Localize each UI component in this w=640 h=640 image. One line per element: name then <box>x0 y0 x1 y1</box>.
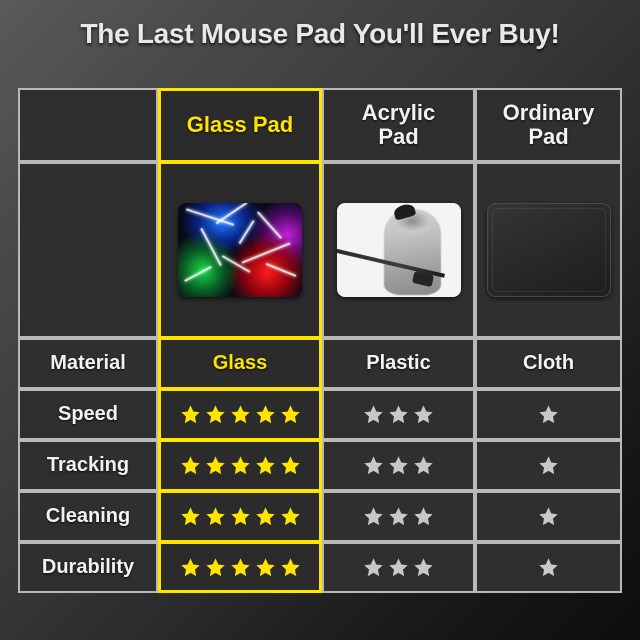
star-icon <box>255 455 276 476</box>
header-label-ordinary-pad: Ordinary Pad <box>503 101 595 149</box>
header-cell-acrylic-pad[interactable]: Acrylic Pad <box>322 88 475 162</box>
glass-pad-neon-lightning-icon <box>178 203 302 297</box>
star-icon <box>413 506 434 527</box>
star-icon <box>538 404 559 425</box>
star-icon <box>413 404 434 425</box>
star-rating <box>538 506 559 527</box>
star-rating <box>363 404 434 425</box>
table-row-cleaning: Cleaning <box>18 491 622 542</box>
star-rating <box>538 455 559 476</box>
header-label-glass-pad: Glass Pad <box>187 113 293 137</box>
star-icon <box>255 557 276 578</box>
star-rating <box>538 557 559 578</box>
star-icon <box>205 455 226 476</box>
star-icon <box>388 404 409 425</box>
image-cell-empty <box>18 162 158 338</box>
row-label-speed: Speed <box>18 389 158 440</box>
star-rating <box>363 506 434 527</box>
star-rating <box>180 455 301 476</box>
star-icon <box>413 455 434 476</box>
star-rating <box>363 557 434 578</box>
acrylic-pad-anime-grayscale-icon <box>337 203 461 297</box>
table-row-speed: Speed <box>18 389 622 440</box>
star-icon <box>205 557 226 578</box>
star-icon <box>230 404 251 425</box>
comparison-infographic: The Last Mouse Pad You'll Ever Buy! Glas… <box>0 0 640 640</box>
star-rating <box>180 404 301 425</box>
rating-glass-durability <box>158 542 322 593</box>
star-icon <box>230 506 251 527</box>
rating-acrylic-cleaning <box>322 491 475 542</box>
rating-glass-speed <box>158 389 322 440</box>
table-row-durability: Durability <box>18 542 622 593</box>
material-value-ordinary: Cloth <box>475 338 622 389</box>
rating-acrylic-tracking <box>322 440 475 491</box>
star-rating <box>180 557 301 578</box>
rating-rows-container: SpeedTrackingCleaningDurability <box>18 389 622 593</box>
rating-acrylic-durability <box>322 542 475 593</box>
star-icon <box>388 455 409 476</box>
star-icon <box>180 506 201 527</box>
star-icon <box>280 455 301 476</box>
rating-glass-tracking <box>158 440 322 491</box>
image-cell-glass-pad[interactable] <box>158 162 322 338</box>
rating-acrylic-speed <box>322 389 475 440</box>
ordinary-pad-plain-black-icon <box>487 203 611 297</box>
star-icon <box>363 455 384 476</box>
row-label-durability: Durability <box>18 542 158 593</box>
table-row-tracking: Tracking <box>18 440 622 491</box>
star-icon <box>363 404 384 425</box>
header-cell-glass-pad[interactable]: Glass Pad <box>158 88 322 162</box>
star-icon <box>538 506 559 527</box>
header-label-ordinary-line2: Pad <box>528 124 568 149</box>
header-label-acrylic-pad: Acrylic Pad <box>362 101 435 149</box>
row-label-cleaning: Cleaning <box>18 491 158 542</box>
material-value-acrylic: Plastic <box>322 338 475 389</box>
rating-ordinary-cleaning <box>475 491 622 542</box>
star-icon <box>280 506 301 527</box>
star-icon <box>388 557 409 578</box>
header-cell-ordinary-pad[interactable]: Ordinary Pad <box>475 88 622 162</box>
star-icon <box>205 506 226 527</box>
star-icon <box>230 455 251 476</box>
star-icon <box>413 557 434 578</box>
rating-ordinary-durability <box>475 542 622 593</box>
rating-ordinary-speed <box>475 389 622 440</box>
material-value-glass: Glass <box>158 338 322 389</box>
star-icon <box>363 506 384 527</box>
star-icon <box>180 455 201 476</box>
star-icon <box>388 506 409 527</box>
header-label-ordinary-line1: Ordinary <box>503 100 595 125</box>
star-icon <box>255 404 276 425</box>
header-label-acrylic-line2: Pad <box>378 124 418 149</box>
star-icon <box>255 506 276 527</box>
star-icon <box>280 557 301 578</box>
star-icon <box>538 557 559 578</box>
star-rating <box>363 455 434 476</box>
row-label-tracking: Tracking <box>18 440 158 491</box>
star-icon <box>538 455 559 476</box>
star-icon <box>363 557 384 578</box>
star-icon <box>230 557 251 578</box>
table-header-row: Glass Pad Acrylic Pad Ordinary Pad <box>18 88 622 162</box>
star-rating <box>538 404 559 425</box>
star-rating <box>180 506 301 527</box>
comparison-table: Glass Pad Acrylic Pad Ordinary Pad <box>18 88 622 600</box>
image-cell-acrylic-pad[interactable] <box>322 162 475 338</box>
table-product-image-row <box>18 162 622 338</box>
header-cell-empty <box>18 88 158 162</box>
star-icon <box>180 557 201 578</box>
header-label-acrylic-line1: Acrylic <box>362 100 435 125</box>
row-label-material: Material <box>18 338 158 389</box>
image-cell-ordinary-pad[interactable] <box>475 162 622 338</box>
star-icon <box>205 404 226 425</box>
rating-ordinary-tracking <box>475 440 622 491</box>
table-row-material: Material Glass Plastic Cloth <box>18 338 622 389</box>
star-icon <box>280 404 301 425</box>
page-title: The Last Mouse Pad You'll Ever Buy! <box>0 18 640 50</box>
star-icon <box>180 404 201 425</box>
rating-glass-cleaning <box>158 491 322 542</box>
